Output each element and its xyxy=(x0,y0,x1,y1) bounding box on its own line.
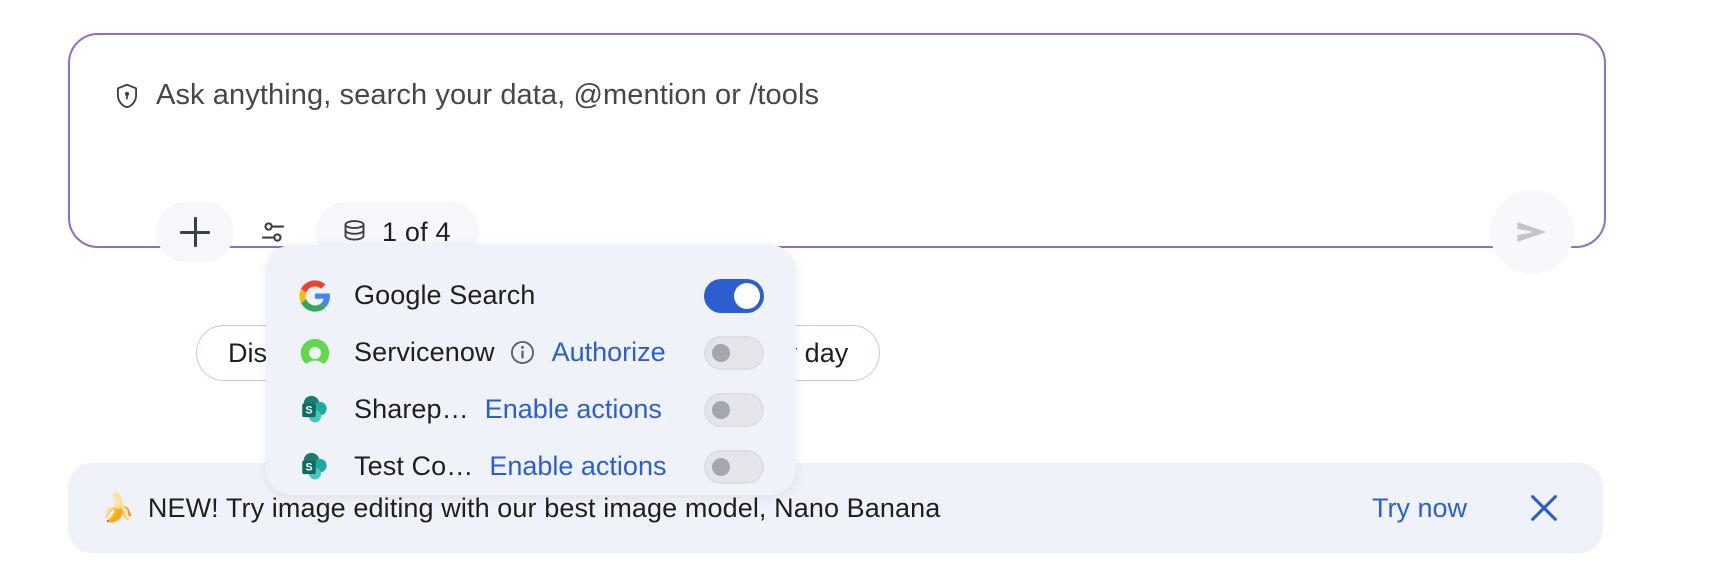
tool-name-label: Test Co… xyxy=(354,451,473,482)
add-attachment-button[interactable] xyxy=(156,202,234,262)
close-icon[interactable] xyxy=(1527,491,1561,525)
tool-toggle-test-connector[interactable] xyxy=(704,450,764,484)
tools-dropdown-panel: Google Search Servicenow Authorize xyxy=(266,245,796,495)
shield-lock-icon xyxy=(114,82,140,110)
tool-action-authorize[interactable]: Authorize xyxy=(552,337,666,368)
tune-icon xyxy=(258,217,288,247)
tool-row-sharepoint[interactable]: S Sharep… Enable actions xyxy=(266,381,796,438)
tool-action-enable-actions[interactable]: Enable actions xyxy=(489,451,666,482)
svg-text:S: S xyxy=(305,461,312,473)
toggle-knob xyxy=(734,283,760,309)
prompt-input-row[interactable]: Ask anything, search your data, @mention… xyxy=(114,79,819,112)
database-icon xyxy=(341,218,368,246)
tool-name-label: Servicenow xyxy=(354,337,495,368)
tool-action-enable-actions[interactable]: Enable actions xyxy=(485,394,662,425)
prompt-composer[interactable]: Ask anything, search your data, @mention… xyxy=(68,33,1606,248)
toggle-knob xyxy=(712,344,730,362)
tool-toggle-servicenow[interactable] xyxy=(704,336,764,370)
prompt-placeholder[interactable]: Ask anything, search your data, @mention… xyxy=(156,79,819,112)
tool-toggle-sharepoint[interactable] xyxy=(704,393,764,427)
tool-name-label: Sharep… xyxy=(354,394,469,425)
toggle-knob xyxy=(712,458,730,476)
google-logo xyxy=(298,279,332,313)
send-arrow-icon xyxy=(1514,216,1550,248)
sharepoint-logo: S xyxy=(298,450,332,484)
svg-text:S: S xyxy=(305,404,312,416)
send-button[interactable] xyxy=(1490,190,1574,274)
servicenow-logo xyxy=(298,336,332,370)
app-root: Ask anything, search your data, @mention… xyxy=(0,0,1726,584)
info-icon[interactable] xyxy=(509,339,536,366)
plus-icon xyxy=(180,217,210,247)
tool-row-google-search[interactable]: Google Search xyxy=(266,267,796,324)
datasource-count-label: 1 of 4 xyxy=(382,217,451,248)
promo-message: NEW! Try image editing with our best ima… xyxy=(148,493,941,524)
tool-name-label: Google Search xyxy=(354,280,535,311)
tool-toggle-google-search[interactable] xyxy=(704,279,764,313)
sharepoint-logo: S xyxy=(298,393,332,427)
toggle-knob xyxy=(712,401,730,419)
tool-row-servicenow[interactable]: Servicenow Authorize xyxy=(266,324,796,381)
promo-try-now-link[interactable]: Try now xyxy=(1372,493,1467,524)
tool-row-test-connector[interactable]: S Test Co… Enable actions xyxy=(266,438,796,495)
banana-icon: 🍌 xyxy=(100,494,135,522)
